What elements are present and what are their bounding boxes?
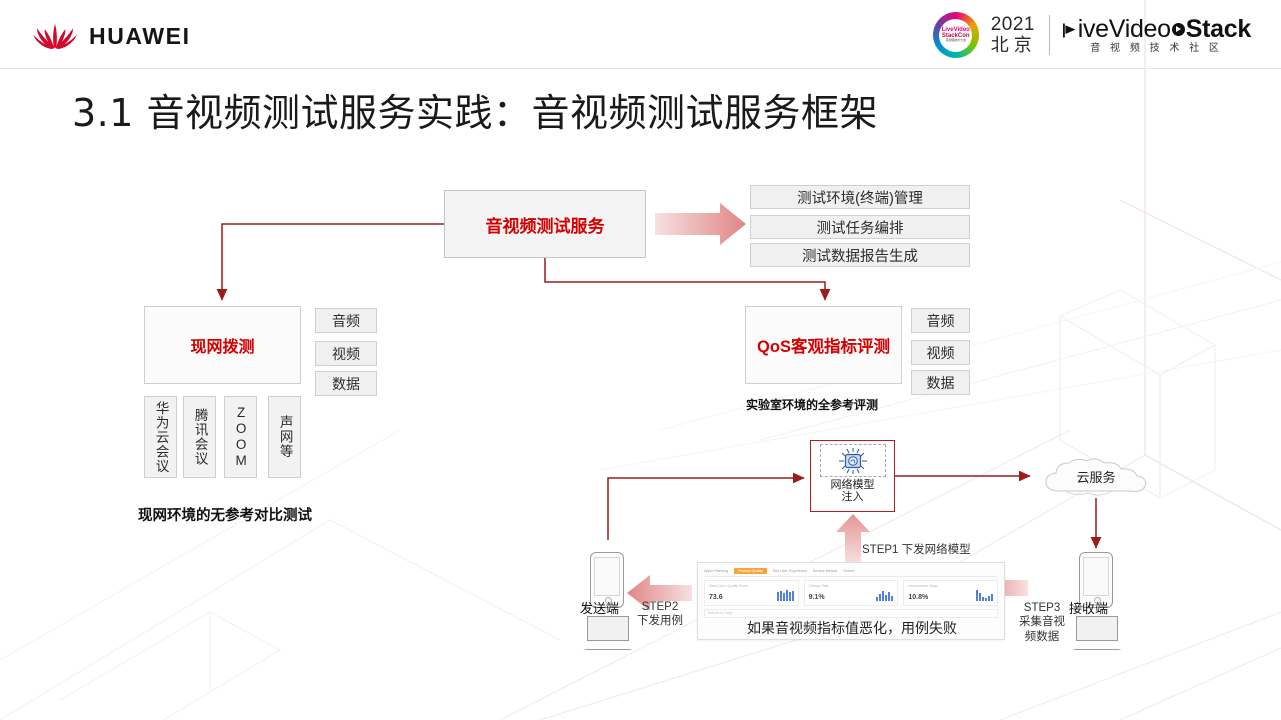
receiver-label: 接收端 bbox=[1069, 598, 1108, 617]
step3-line3: 频数据 bbox=[1019, 630, 1065, 644]
chip-label: 音频 bbox=[927, 311, 955, 331]
right-caption: 实验室环境的全参考评测 bbox=[746, 396, 878, 413]
slide-root: HUAWEI LiveVideo StackCon 音视频技术大会 2021 北… bbox=[0, 0, 1281, 720]
feature-label: 测试环境(终端)管理 bbox=[797, 187, 923, 208]
dashboard-tab-0[interactable]: Apple Planning bbox=[704, 569, 728, 573]
card-value: 9.1% bbox=[809, 594, 825, 601]
step3-line2: 采集音视 bbox=[1019, 615, 1065, 629]
sender-laptop[interactable] bbox=[583, 616, 633, 650]
dashboard-tab-4[interactable]: Search bbox=[843, 569, 854, 573]
wordmark-video: Video bbox=[1109, 16, 1171, 42]
step3-line1: STEP3 bbox=[1019, 601, 1065, 615]
badge-line-3: 音视频技术大会 bbox=[946, 40, 966, 43]
huawei-wordmark: HUAWEI bbox=[89, 25, 191, 48]
receiver-laptop[interactable] bbox=[1072, 616, 1122, 650]
play-dot-icon bbox=[1172, 23, 1185, 36]
live-network-dial-test-box[interactable]: 现网拨测 bbox=[144, 306, 301, 384]
sender-label: 发送端 bbox=[580, 598, 619, 617]
net-label-line1: 网络模型 bbox=[831, 479, 875, 491]
dashboard-tab-1[interactable]: Product Quality bbox=[734, 568, 767, 574]
header-divider bbox=[0, 68, 1281, 69]
chip-label: 视频 bbox=[332, 344, 360, 364]
wordmark-stack: Stack bbox=[1186, 16, 1251, 42]
livevideostack-wordmark: ive Video Stack 音 视 频 技 术 社 区 bbox=[1062, 16, 1251, 55]
network-model-injection-node[interactable]: 网络模型 注入 bbox=[810, 440, 895, 512]
chip-label: 数据 bbox=[332, 374, 360, 394]
service-box-label: 音视频测试服务 bbox=[486, 212, 605, 237]
conference-city: 北京 bbox=[991, 36, 1037, 55]
chip-label: 音频 bbox=[332, 311, 360, 331]
logo-divider bbox=[1049, 15, 1050, 55]
qos-chip-video[interactable]: 视频 bbox=[911, 340, 970, 365]
card-value: 10.8% bbox=[908, 594, 928, 601]
dashboard-tabs[interactable]: Apple Planning Product Quality End User … bbox=[704, 568, 998, 577]
cloud-label: 云服务 bbox=[1038, 467, 1154, 486]
dashboard-tab-3[interactable]: Service Metrics bbox=[813, 569, 838, 573]
chip-label: 数据 bbox=[927, 373, 955, 393]
step2-line2: 下发用例 bbox=[637, 614, 683, 628]
dashboard-card-2[interactable]: Infrastructure Msgs 10.8% bbox=[903, 580, 998, 606]
dial-chip-data[interactable]: 数据 bbox=[315, 371, 377, 396]
qos-box-label: QoS客观指标评测 bbox=[757, 333, 890, 357]
play-flag-icon bbox=[1062, 23, 1077, 38]
dashboard-cards: Mean Opin. Quality Score 73.6 Change Rat… bbox=[704, 580, 998, 606]
card-value: 73.6 bbox=[709, 594, 723, 601]
livevideostack-logo-block: LiveVideo StackCon 音视频技术大会 2021 北京 ive V… bbox=[933, 12, 1251, 58]
sparkline-chart bbox=[777, 590, 794, 601]
conference-year: 2021 bbox=[991, 15, 1037, 35]
arrow-service-to-features bbox=[655, 203, 746, 245]
vendor-zoom[interactable]: ZOOM bbox=[224, 396, 257, 478]
vendor-tencent-meeting[interactable]: 腾讯会议 bbox=[183, 396, 216, 478]
feature-item-task-orchestration[interactable]: 测试任务编排 bbox=[750, 215, 970, 239]
left-caption: 现网环境的无参考对比测试 bbox=[138, 504, 312, 525]
wordmark-ive: ive bbox=[1078, 16, 1109, 42]
metrics-dashboard-screenshot[interactable]: Apple Planning Product Quality End User … bbox=[697, 562, 1005, 640]
conference-year-city: 2021 北京 bbox=[991, 15, 1037, 54]
step3-label: STEP3 采集音视 频数据 bbox=[1019, 601, 1065, 644]
card-title: Infrastructure Msgs bbox=[908, 584, 993, 588]
chip-network-icon bbox=[820, 444, 886, 477]
network-model-label: 网络模型 注入 bbox=[831, 479, 875, 504]
feature-item-env-management[interactable]: 测试环境(终端)管理 bbox=[750, 185, 970, 209]
dashboard-card-0[interactable]: Mean Opin. Quality Score 73.6 bbox=[704, 580, 799, 606]
dial-chip-audio[interactable]: 音频 bbox=[315, 308, 377, 333]
slide-header: HUAWEI LiveVideo StackCon 音视频技术大会 2021 北… bbox=[0, 0, 1281, 70]
chip-label: 视频 bbox=[927, 343, 955, 363]
step2-line1: STEP2 bbox=[637, 600, 683, 614]
feature-label: 测试任务编排 bbox=[817, 217, 904, 238]
step2-label: STEP2 下发用例 bbox=[637, 600, 683, 629]
dial-box-label: 现网拨测 bbox=[190, 333, 254, 357]
dashboard-card-1[interactable]: Change Rate 9.1% bbox=[804, 580, 899, 606]
sparkline-chart bbox=[976, 590, 993, 601]
cloud-service-node[interactable]: 云服务 bbox=[1038, 455, 1154, 500]
dial-chip-video[interactable]: 视频 bbox=[315, 341, 377, 366]
step1-label: STEP1 下发网络模型 bbox=[862, 543, 971, 557]
sparkline-chart bbox=[876, 590, 893, 601]
vendor-agora-etc[interactable]: 声网等 bbox=[268, 396, 301, 478]
dashboard-strip: Defects by Stage bbox=[704, 609, 998, 618]
qos-chip-audio[interactable]: 音频 bbox=[911, 308, 970, 333]
vendor-huawei-cloud-meeting[interactable]: 华为云会议 bbox=[144, 396, 177, 478]
net-label-line2: 注入 bbox=[831, 491, 875, 503]
dashboard-tab-2[interactable]: End User Experience bbox=[773, 569, 807, 573]
qos-chip-data[interactable]: 数据 bbox=[911, 370, 970, 395]
card-title: Mean Opin. Quality Score bbox=[709, 584, 794, 588]
dashboard-note: 如果音视频指标值恶化，用例失败 bbox=[698, 618, 1006, 638]
livevideostackcon-badge-icon: LiveVideo StackCon 音视频技术大会 bbox=[933, 12, 979, 58]
huawei-flower-icon bbox=[32, 22, 78, 50]
qos-evaluation-box[interactable]: QoS客观指标评测 bbox=[745, 306, 902, 384]
huawei-logo: HUAWEI bbox=[32, 22, 191, 50]
wordmark-subtitle: 音 视 频 技 术 社 区 bbox=[1090, 44, 1222, 55]
card-title: Change Rate bbox=[809, 584, 894, 588]
page-title: 3.1 音视频测试服务实践：音视频测试服务框架 bbox=[72, 82, 878, 137]
feature-label: 测试数据报告生成 bbox=[802, 245, 918, 266]
service-box[interactable]: 音视频测试服务 bbox=[444, 190, 646, 258]
feature-item-report-generation[interactable]: 测试数据报告生成 bbox=[750, 243, 970, 267]
